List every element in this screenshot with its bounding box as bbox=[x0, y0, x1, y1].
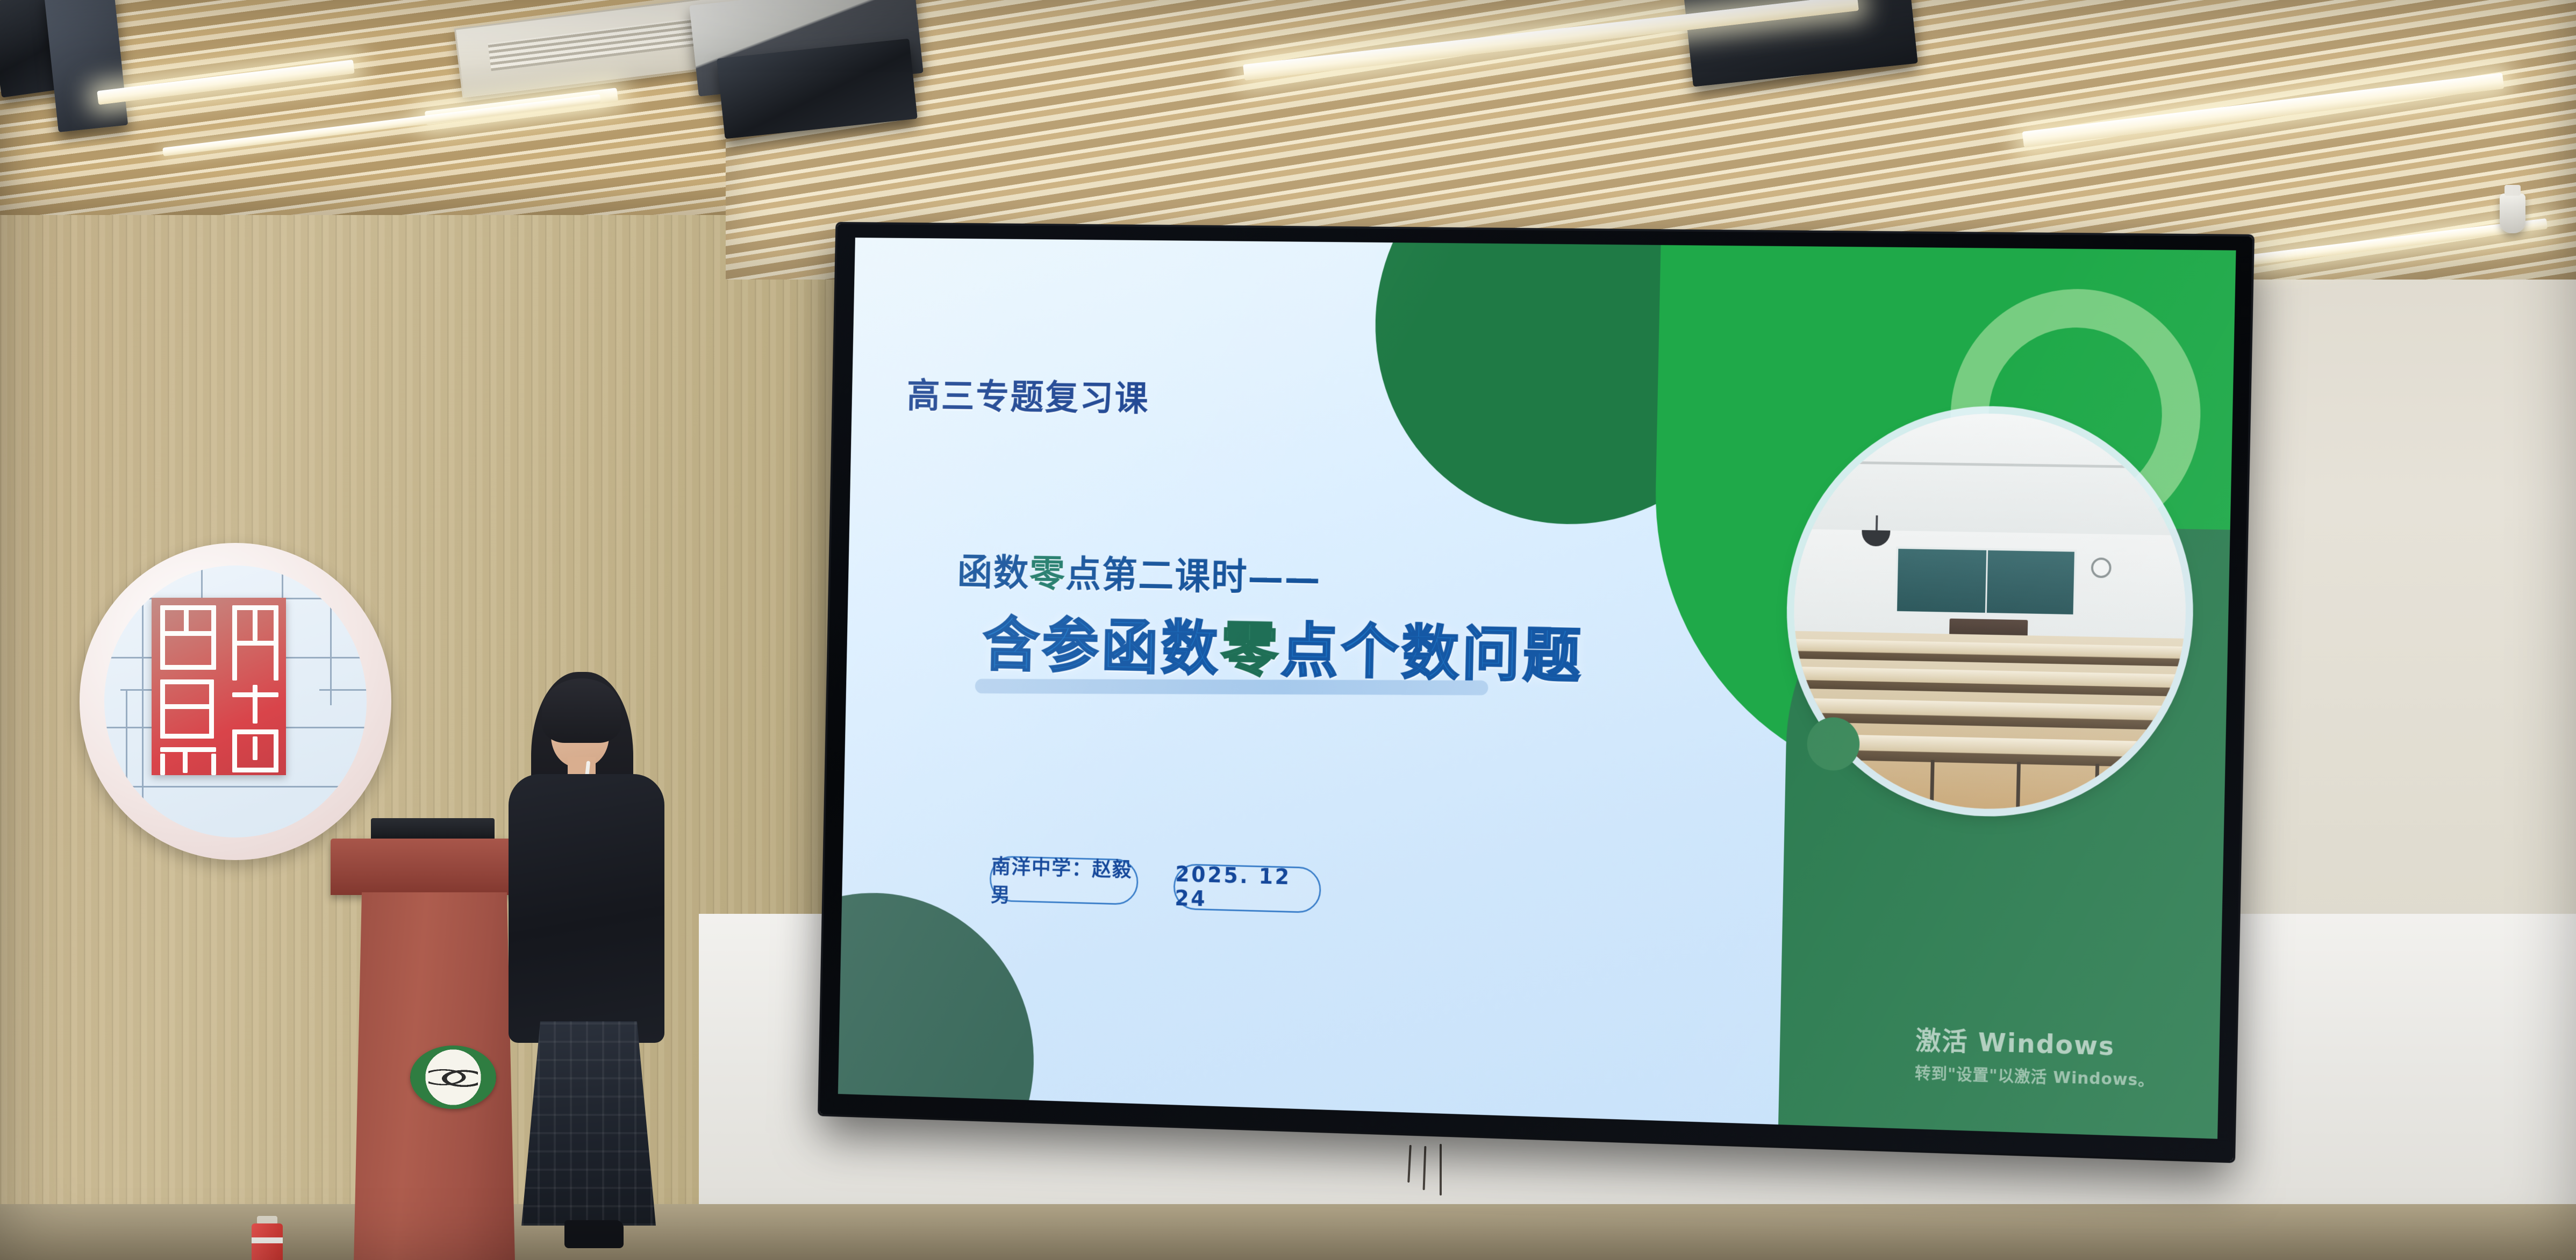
title-zero: 零 bbox=[1220, 615, 1282, 685]
presenter-skirt bbox=[521, 1021, 656, 1226]
subtitle-part-a: 函数 bbox=[957, 551, 1030, 595]
podium-body bbox=[354, 892, 515, 1260]
subtitle-part-b: 点第二课时—— bbox=[1065, 553, 1322, 600]
author-pill: 南洋中学：赵毅男 bbox=[989, 856, 1139, 906]
photo-blackboard bbox=[1895, 546, 2076, 617]
photo-ceiling bbox=[1796, 411, 2190, 536]
date-pill: 2025. 12 24 bbox=[1173, 863, 1321, 913]
presenter-coat bbox=[509, 774, 664, 1043]
wooden-podium bbox=[339, 839, 527, 1260]
decor-circle-bottom-left bbox=[838, 889, 1037, 1139]
subtitle-zero: 零 bbox=[1029, 552, 1066, 596]
wall-cable bbox=[1440, 1144, 1442, 1195]
ceiling-speaker-panel bbox=[44, 0, 128, 132]
presentation-slide[interactable]: 高三专题复习课 函数零点第二课时—— 含参函数零点个数问题 南洋中学：赵毅男 2… bbox=[838, 238, 2236, 1139]
title-underline-bar bbox=[975, 679, 1489, 695]
fire-extinguisher-icon bbox=[252, 1223, 283, 1260]
seal-plaque bbox=[152, 598, 286, 775]
school-crest-icon bbox=[410, 1046, 496, 1109]
presenter-shoe bbox=[564, 1220, 624, 1248]
emblem-inner-panel bbox=[104, 565, 367, 837]
presenter-fringe bbox=[542, 678, 621, 743]
classroom-scene: 高三专题复习课 函数零点第二课时—— 含参函数零点个数问题 南洋中学：赵毅男 2… bbox=[0, 0, 2576, 1260]
security-camera-icon bbox=[2500, 194, 2525, 233]
slide-subtitle: 函数零点第二课时—— bbox=[957, 543, 1322, 602]
circular-wall-emblem bbox=[80, 543, 391, 860]
presenter bbox=[500, 667, 677, 1260]
title-part-a: 含参函数 bbox=[982, 611, 1221, 684]
slide-kicker: 高三专题复习课 bbox=[906, 368, 1150, 421]
projection-screen[interactable]: 高三专题复习课 函数零点第二课时—— 含参函数零点个数问题 南洋中学：赵毅男 2… bbox=[820, 224, 2252, 1161]
